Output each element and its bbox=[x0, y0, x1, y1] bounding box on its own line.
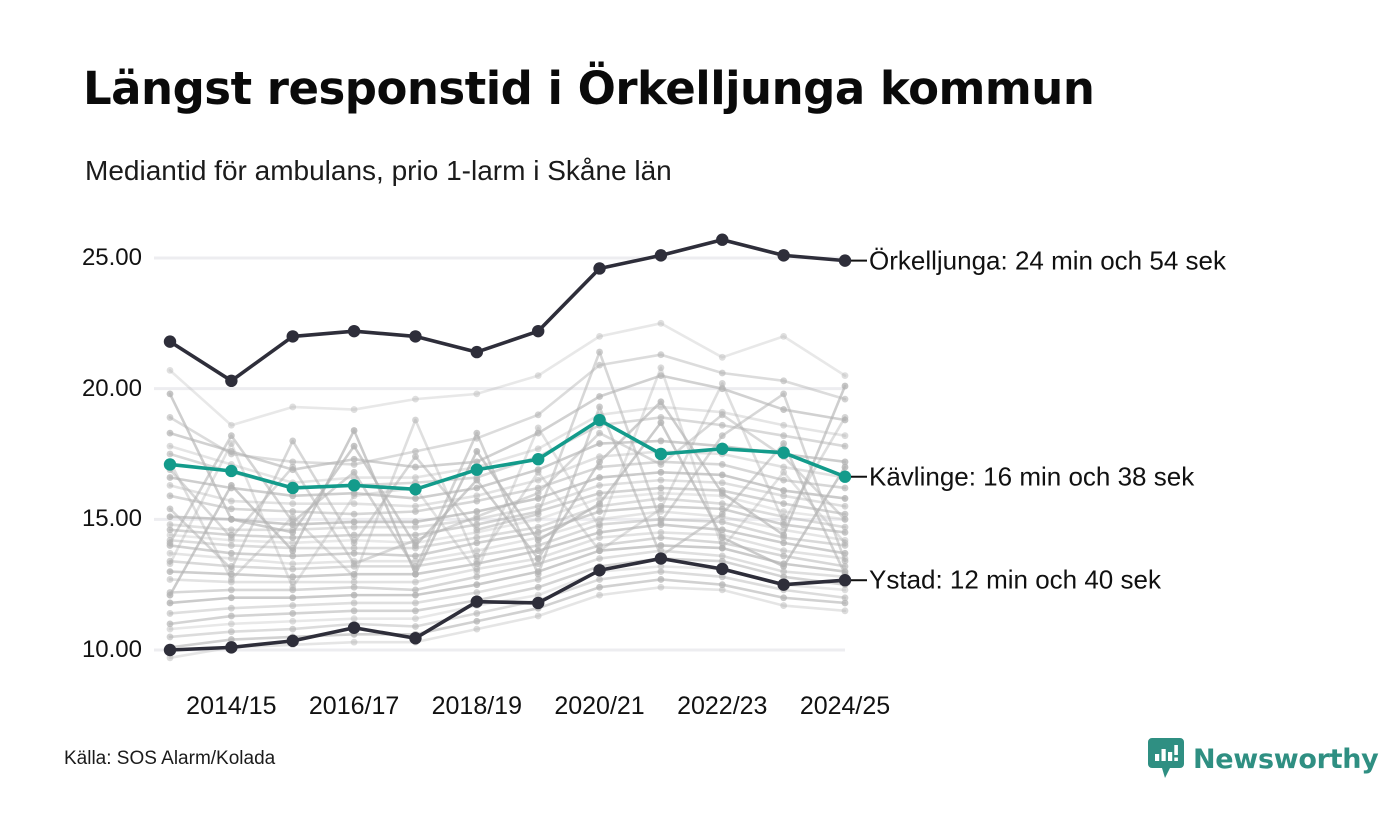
context-point bbox=[412, 615, 419, 622]
context-point bbox=[228, 498, 235, 505]
context-point bbox=[719, 411, 726, 418]
context-point bbox=[473, 430, 480, 437]
context-point bbox=[842, 529, 849, 536]
context-point bbox=[351, 639, 358, 646]
x-tick-2024-25: 2024/25 bbox=[765, 692, 925, 721]
context-point bbox=[351, 443, 358, 450]
series-point-Ystad bbox=[716, 563, 728, 575]
annotation-label-ystad: Ystad: 12 min och 40 sek bbox=[869, 565, 1161, 596]
context-point bbox=[351, 607, 358, 614]
context-point bbox=[289, 626, 296, 633]
annotation-label-kävlinge: Kävlinge: 16 min och 38 sek bbox=[869, 461, 1194, 492]
context-point bbox=[842, 516, 849, 523]
context-point bbox=[473, 589, 480, 596]
context-point bbox=[228, 620, 235, 627]
context-point bbox=[473, 526, 480, 533]
context-point bbox=[535, 555, 542, 562]
context-point bbox=[167, 560, 174, 567]
context-point bbox=[842, 443, 849, 450]
context-point bbox=[658, 364, 665, 371]
context-point bbox=[780, 553, 787, 560]
context-point bbox=[228, 432, 235, 439]
context-point bbox=[780, 422, 787, 429]
series-point-Örkelljunga bbox=[655, 249, 667, 261]
series-point-Örkelljunga bbox=[777, 249, 789, 261]
context-point bbox=[167, 390, 174, 397]
context-point bbox=[780, 406, 787, 413]
series-line-Ystad bbox=[170, 559, 845, 650]
context-point bbox=[780, 563, 787, 570]
context-point bbox=[780, 500, 787, 507]
context-line bbox=[170, 407, 845, 483]
context-point bbox=[351, 539, 358, 546]
context-point bbox=[351, 584, 358, 591]
logo-wordmark: Newsworthy bbox=[1193, 746, 1378, 773]
context-point bbox=[167, 600, 174, 607]
context-point bbox=[780, 492, 787, 499]
series-point-Örkelljunga bbox=[839, 254, 851, 266]
context-point bbox=[412, 607, 419, 614]
context-point bbox=[719, 432, 726, 439]
series-point-Örkelljunga bbox=[164, 335, 176, 347]
context-point bbox=[167, 505, 174, 512]
context-point bbox=[412, 566, 419, 573]
context-point bbox=[719, 461, 726, 468]
context-point bbox=[842, 607, 849, 614]
context-point bbox=[842, 464, 849, 471]
context-point bbox=[596, 584, 603, 591]
series-point-Kävlinge bbox=[225, 465, 237, 477]
context-point bbox=[167, 367, 174, 374]
context-point bbox=[473, 610, 480, 617]
context-point bbox=[228, 534, 235, 541]
context-point bbox=[596, 393, 603, 400]
gridlines bbox=[154, 258, 845, 650]
context-point bbox=[535, 613, 542, 620]
context-point bbox=[658, 534, 665, 541]
bar-chart-bubble-icon bbox=[1148, 738, 1184, 780]
context-series-layer bbox=[167, 320, 849, 661]
series-point-Kävlinge bbox=[409, 483, 421, 495]
context-point bbox=[596, 555, 603, 562]
context-point bbox=[596, 547, 603, 554]
context-point bbox=[289, 529, 296, 536]
context-point bbox=[780, 469, 787, 476]
context-point bbox=[473, 448, 480, 455]
context-point bbox=[842, 600, 849, 607]
context-point bbox=[167, 539, 174, 546]
series-point-Kävlinge bbox=[471, 463, 483, 475]
series-point-Ystad bbox=[839, 574, 851, 586]
context-point bbox=[351, 592, 358, 599]
y-tick-10.00: 10.00 bbox=[0, 636, 142, 664]
context-point bbox=[289, 438, 296, 445]
context-point bbox=[228, 505, 235, 512]
context-point bbox=[289, 566, 296, 573]
series-point-Kävlinge bbox=[716, 443, 728, 455]
context-point bbox=[658, 419, 665, 426]
context-point bbox=[780, 594, 787, 601]
context-point bbox=[351, 511, 358, 518]
context-point bbox=[658, 320, 665, 327]
context-point bbox=[412, 524, 419, 531]
context-point bbox=[412, 600, 419, 607]
context-point bbox=[473, 568, 480, 575]
context-point bbox=[535, 584, 542, 591]
context-point bbox=[289, 602, 296, 609]
context-point bbox=[596, 508, 603, 515]
context-point bbox=[535, 372, 542, 379]
context-point bbox=[658, 495, 665, 502]
context-point bbox=[412, 495, 419, 502]
context-point bbox=[658, 461, 665, 468]
context-point bbox=[596, 333, 603, 340]
context-point bbox=[719, 370, 726, 377]
series-point-Kävlinge bbox=[532, 453, 544, 465]
context-point bbox=[596, 349, 603, 356]
context-point bbox=[658, 398, 665, 405]
context-point bbox=[473, 618, 480, 625]
context-point bbox=[842, 414, 849, 421]
series-point-Örkelljunga bbox=[348, 325, 360, 337]
context-point bbox=[596, 404, 603, 411]
context-point bbox=[535, 511, 542, 518]
line-chart-plot: 10.0015.0020.0025.00 2014/152016/172018/… bbox=[0, 0, 1400, 840]
context-point bbox=[780, 602, 787, 609]
context-point bbox=[473, 485, 480, 492]
series-point-Örkelljunga bbox=[532, 325, 544, 337]
context-point bbox=[842, 485, 849, 492]
series-point-Örkelljunga bbox=[716, 234, 728, 246]
context-point bbox=[719, 354, 726, 361]
y-tick-20.00: 20.00 bbox=[0, 375, 142, 403]
context-point bbox=[780, 377, 787, 384]
context-point bbox=[412, 464, 419, 471]
context-point bbox=[228, 566, 235, 573]
series-point-Ystad bbox=[471, 595, 483, 607]
context-point bbox=[228, 422, 235, 429]
context-point bbox=[289, 404, 296, 411]
newsworthy-logo[interactable]: Newsworthy bbox=[1148, 738, 1378, 780]
series-point-Kävlinge bbox=[287, 482, 299, 494]
series-point-Kävlinge bbox=[839, 471, 851, 483]
context-point bbox=[473, 513, 480, 520]
context-point bbox=[167, 482, 174, 489]
context-point bbox=[535, 445, 542, 452]
context-point bbox=[412, 623, 419, 630]
context-point bbox=[351, 600, 358, 607]
context-point bbox=[228, 542, 235, 549]
context-point bbox=[167, 492, 174, 499]
context-point bbox=[228, 576, 235, 583]
context-point bbox=[780, 432, 787, 439]
context-point bbox=[228, 605, 235, 612]
context-point bbox=[596, 576, 603, 583]
context-point bbox=[412, 508, 419, 515]
context-point bbox=[167, 474, 174, 481]
context-point bbox=[658, 351, 665, 358]
context-point bbox=[719, 490, 726, 497]
series-point-Ystad bbox=[777, 578, 789, 590]
context-point bbox=[412, 579, 419, 586]
context-point bbox=[351, 550, 358, 557]
context-point bbox=[473, 477, 480, 484]
context-point bbox=[596, 592, 603, 599]
context-point bbox=[351, 573, 358, 580]
context-point bbox=[658, 477, 665, 484]
series-point-Ystad bbox=[409, 632, 421, 644]
context-point bbox=[289, 547, 296, 554]
context-point bbox=[842, 503, 849, 510]
series-point-Örkelljunga bbox=[287, 330, 299, 342]
context-point bbox=[289, 610, 296, 617]
series-point-Örkelljunga bbox=[225, 375, 237, 387]
context-point bbox=[842, 372, 849, 379]
context-point bbox=[842, 539, 849, 546]
context-point bbox=[412, 453, 419, 460]
series-point-Kävlinge bbox=[593, 414, 605, 426]
context-point bbox=[658, 519, 665, 526]
context-point bbox=[780, 477, 787, 484]
context-point bbox=[719, 472, 726, 479]
context-point bbox=[535, 490, 542, 497]
annotation-label-örkelljunga: Örkelljunga: 24 min och 54 sek bbox=[869, 245, 1226, 276]
series-point-Örkelljunga bbox=[409, 330, 421, 342]
series-point-Ystad bbox=[532, 597, 544, 609]
context-point bbox=[167, 550, 174, 557]
series-point-Ystad bbox=[348, 622, 360, 634]
context-point bbox=[780, 532, 787, 539]
context-point bbox=[842, 586, 849, 593]
context-point bbox=[167, 513, 174, 520]
context-point bbox=[167, 634, 174, 641]
context-point bbox=[780, 440, 787, 447]
context-point bbox=[473, 390, 480, 397]
context-point bbox=[842, 383, 849, 390]
context-point bbox=[719, 380, 726, 387]
context-point bbox=[473, 498, 480, 505]
context-point bbox=[289, 584, 296, 591]
context-point bbox=[596, 500, 603, 507]
context-point bbox=[719, 519, 726, 526]
context-point bbox=[535, 571, 542, 578]
annotation-connectors bbox=[851, 261, 867, 581]
context-point bbox=[719, 479, 726, 486]
context-point bbox=[167, 443, 174, 450]
context-point bbox=[842, 432, 849, 439]
series-point-Örkelljunga bbox=[593, 262, 605, 274]
context-point bbox=[596, 458, 603, 465]
series-point-Ystad bbox=[655, 552, 667, 564]
context-point bbox=[780, 539, 787, 546]
context-point bbox=[167, 592, 174, 599]
context-point bbox=[535, 537, 542, 544]
context-point bbox=[473, 558, 480, 565]
context-point bbox=[658, 584, 665, 591]
context-point bbox=[351, 524, 358, 531]
context-point bbox=[473, 626, 480, 633]
context-point bbox=[780, 519, 787, 526]
context-point bbox=[167, 430, 174, 437]
context-point bbox=[351, 469, 358, 476]
context-point bbox=[412, 396, 419, 403]
context-point bbox=[412, 592, 419, 599]
series-line-Örkelljunga bbox=[170, 240, 845, 381]
series-point-Ystad bbox=[164, 644, 176, 656]
context-point bbox=[719, 586, 726, 593]
context-point bbox=[167, 576, 174, 583]
series-point-Örkelljunga bbox=[471, 346, 483, 358]
source-note: Källa: SOS Alarm/Kolada bbox=[64, 748, 275, 770]
context-point bbox=[351, 427, 358, 434]
context-point bbox=[412, 542, 419, 549]
context-point bbox=[535, 411, 542, 418]
series-point-Ystad bbox=[287, 635, 299, 647]
context-point bbox=[228, 594, 235, 601]
context-point bbox=[228, 628, 235, 635]
context-point bbox=[596, 534, 603, 541]
y-tick-25.00: 25.00 bbox=[0, 244, 142, 272]
context-point bbox=[719, 545, 726, 552]
context-point bbox=[658, 469, 665, 476]
context-point bbox=[658, 505, 665, 512]
context-point bbox=[167, 414, 174, 421]
context-point bbox=[596, 482, 603, 489]
context-point bbox=[596, 440, 603, 447]
context-point bbox=[596, 524, 603, 531]
context-point bbox=[842, 495, 849, 502]
context-point bbox=[228, 613, 235, 620]
context-point bbox=[289, 618, 296, 625]
context-line bbox=[170, 323, 845, 425]
context-point bbox=[596, 474, 603, 481]
context-point bbox=[658, 576, 665, 583]
series-point-Kävlinge bbox=[164, 458, 176, 470]
context-point bbox=[228, 482, 235, 489]
series-point-Ystad bbox=[593, 564, 605, 576]
context-point bbox=[473, 539, 480, 546]
context-point bbox=[289, 594, 296, 601]
context-point bbox=[351, 406, 358, 413]
context-point bbox=[596, 362, 603, 369]
context-point bbox=[719, 511, 726, 518]
context-point bbox=[167, 451, 174, 458]
series-point-Ystad bbox=[225, 641, 237, 653]
context-point bbox=[535, 424, 542, 431]
context-point bbox=[167, 610, 174, 617]
series-point-Kävlinge bbox=[777, 446, 789, 458]
context-point bbox=[351, 492, 358, 499]
context-point bbox=[351, 456, 358, 463]
context-point bbox=[167, 626, 174, 633]
context-point bbox=[228, 555, 235, 562]
context-point bbox=[289, 519, 296, 526]
y-tick-15.00: 15.00 bbox=[0, 505, 142, 533]
context-point bbox=[167, 568, 174, 575]
series-point-Kävlinge bbox=[348, 479, 360, 491]
context-point bbox=[780, 390, 787, 397]
context-point bbox=[289, 464, 296, 471]
context-point bbox=[658, 438, 665, 445]
context-point bbox=[412, 417, 419, 424]
context-point bbox=[780, 333, 787, 340]
context-point bbox=[842, 396, 849, 403]
context-point bbox=[842, 558, 849, 565]
context-point bbox=[719, 534, 726, 541]
context-point bbox=[228, 516, 235, 523]
context-point bbox=[351, 560, 358, 567]
context-point bbox=[596, 430, 603, 437]
chart-root: Längst responstid i Örkelljunga kommun M… bbox=[0, 0, 1400, 840]
context-point bbox=[658, 568, 665, 575]
series-point-Kävlinge bbox=[655, 448, 667, 460]
context-point bbox=[228, 586, 235, 593]
context-point bbox=[473, 581, 480, 588]
context-point bbox=[289, 500, 296, 507]
context-point bbox=[535, 469, 542, 476]
context-point bbox=[719, 422, 726, 429]
